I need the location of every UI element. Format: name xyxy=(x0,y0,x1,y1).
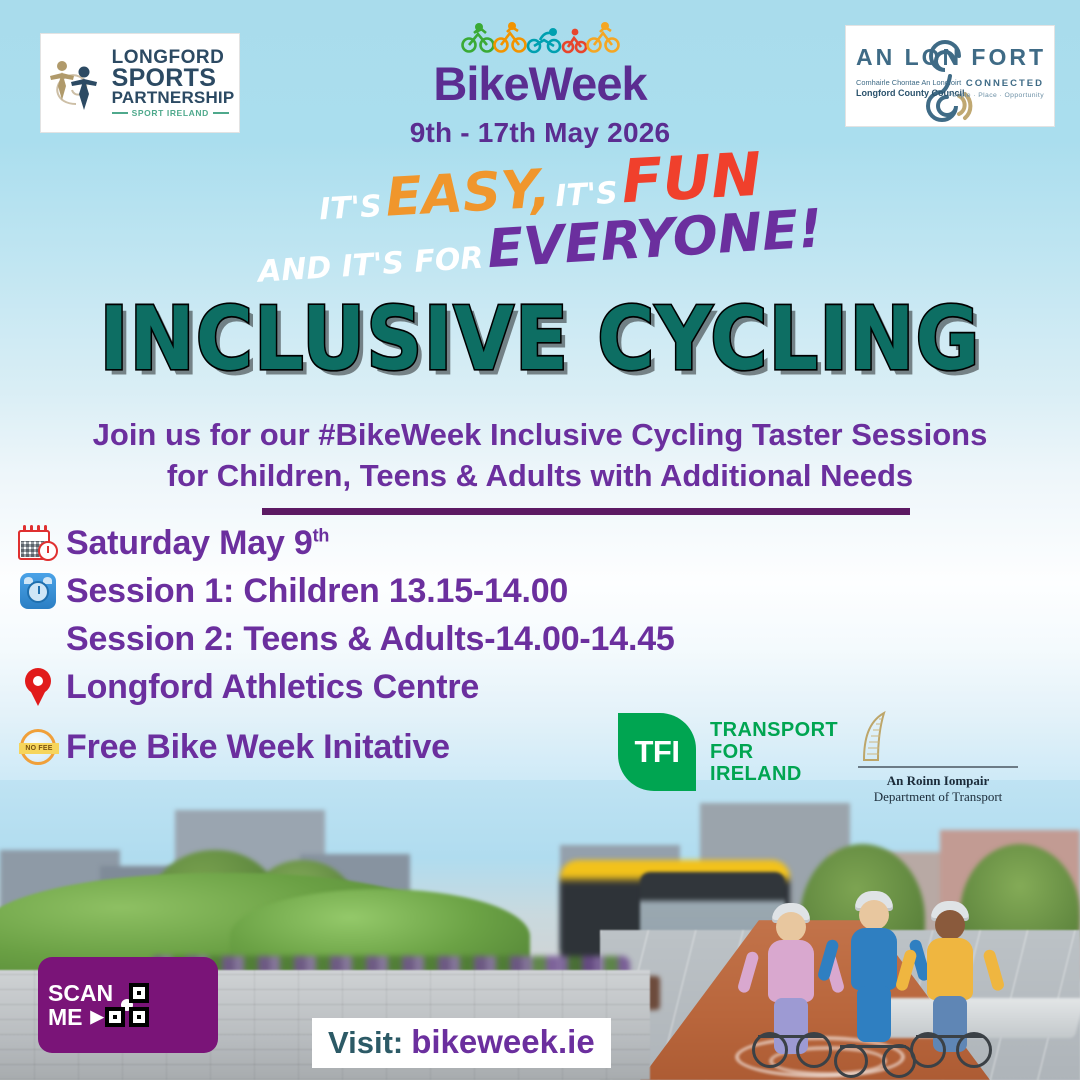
visit-website-bar[interactable]: Visit: bikeweek.ie xyxy=(312,1018,611,1068)
tagline-and-its-for: AND IT'S FOR xyxy=(257,241,484,290)
detail-row-location: Longford Athletics Centre xyxy=(10,663,650,711)
cyclist-body xyxy=(927,938,973,1000)
tagline-its-1: IT'S xyxy=(318,189,382,227)
irish-harp-icon xyxy=(858,710,1018,762)
detail-text-location: Longford Athletics Centre xyxy=(66,668,479,707)
no-fee-icon: NO FEE xyxy=(10,729,66,765)
bicycle-wheel xyxy=(834,1044,868,1078)
cyclist-head xyxy=(935,910,965,940)
scan-line-1: SCAN xyxy=(48,980,113,1006)
cyclist-strip-icon xyxy=(460,20,620,54)
detail-text-session-1: Session 1: Children 13.15-14.00 xyxy=(66,572,568,611)
dot-irish-name: An Roinn Iompair xyxy=(858,773,1018,789)
cyclist-head xyxy=(859,900,889,930)
subheading-line-1: Join us for our #BikeWeek Inclusive Cycl… xyxy=(0,415,1080,456)
website-url[interactable]: bikeweek.ie xyxy=(411,1023,594,1061)
detail-row-price: NO FEE Free Bike Week Initative xyxy=(10,723,650,771)
bikeweek-title: BikeWeek xyxy=(0,56,1080,111)
dot-divider xyxy=(858,766,1018,768)
detail-text-session-2: Session 2: Teens & Adults-14.00-14.45 xyxy=(66,620,675,659)
detail-text-price: Free Bike Week Initative xyxy=(66,728,450,767)
divider-rule xyxy=(262,508,910,515)
bikeweek-inclusive-cycling-poster: LONGFORD SPORTS PARTNERSHIP SPORT IRELAN… xyxy=(0,0,1080,1080)
bikeweek-brand-block: BikeWeek 9th - 17th May 2026 xyxy=(0,20,1080,149)
tfi-abbreviation: TFI xyxy=(635,734,680,770)
detail-text-date: Saturday May 9th xyxy=(66,524,329,563)
date-ordinal-suffix: th xyxy=(313,525,330,545)
bicycle-frame xyxy=(916,1035,984,1038)
no-fee-label: NO FEE xyxy=(25,745,52,752)
tfi-word-ireland: IRELAND xyxy=(710,763,838,785)
bicycle-frame xyxy=(840,1045,906,1048)
detail-row-session-1: Session 1: Children 13.15-14.00 xyxy=(10,567,650,615)
bicycle-frame xyxy=(758,1035,824,1038)
play-arrow-icon: ▶ xyxy=(91,1008,104,1026)
cyclist-legs xyxy=(857,986,891,1042)
bikeweek-cyclist-icons xyxy=(0,20,1080,54)
dot-english-name: Department of Transport xyxy=(858,789,1018,805)
location-pin-icon xyxy=(10,668,66,706)
event-description: Join us for our #BikeWeek Inclusive Cycl… xyxy=(0,415,1080,497)
cyclist-body xyxy=(851,928,897,990)
transport-for-ireland-logo: TFI TRANSPORT FOR IRELAND xyxy=(618,713,838,791)
tfi-wordmark: TRANSPORT FOR IRELAND xyxy=(710,719,838,785)
alarm-clock-icon xyxy=(10,573,66,609)
cyclist-body xyxy=(768,940,814,1002)
visit-label: Visit: xyxy=(328,1025,403,1061)
campaign-tagline: IT'S EASY, IT'S FUN AND IT'S FOR EVERYON… xyxy=(0,152,1080,277)
event-details-list: Saturday May 9th Session 1: Children 13.… xyxy=(10,519,650,771)
tagline-its-2: IT'S xyxy=(554,176,618,214)
detail-row-date: Saturday May 9th xyxy=(10,519,650,567)
tfi-word-transport: TRANSPORT xyxy=(710,719,838,741)
cyclist-figure xyxy=(906,910,994,1062)
cyclist-figure xyxy=(748,912,834,1062)
calendar-clock-icon xyxy=(10,525,66,561)
scan-line-2: ME xyxy=(48,1005,83,1029)
qr-code-panel[interactable] xyxy=(121,999,133,1011)
page-title: INCLUSIVE CYCLING xyxy=(0,290,1080,391)
tfi-leaf-icon: TFI xyxy=(618,713,696,791)
scan-me-label: SCAN ME ▶ xyxy=(48,981,113,1029)
department-of-transport-logo: An Roinn Iompair Department of Transport xyxy=(858,710,1018,805)
subheading-line-2: for Children, Teens & Adults with Additi… xyxy=(0,456,1080,497)
tfi-word-for: FOR xyxy=(710,741,838,763)
detail-row-session-2: Session 2: Teens & Adults-14.00-14.45 xyxy=(10,615,650,663)
scan-me-badge[interactable]: SCAN ME ▶ xyxy=(38,957,218,1053)
cyclist-head xyxy=(776,912,806,942)
